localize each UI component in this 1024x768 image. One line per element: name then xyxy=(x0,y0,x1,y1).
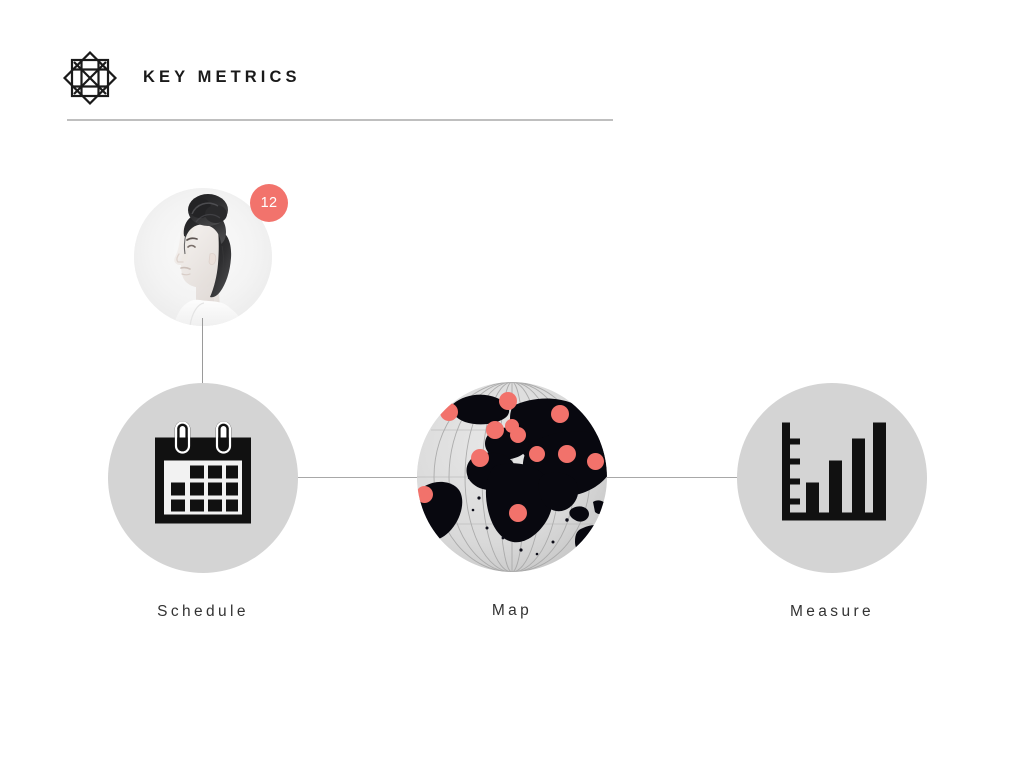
node-map[interactable]: Map xyxy=(417,382,607,572)
page-header: KEY METRICS xyxy=(0,0,1024,130)
connector-map-to-measure xyxy=(598,477,738,478)
node-schedule[interactable]: Schedule xyxy=(108,383,298,573)
map-marker[interactable] xyxy=(551,405,569,423)
avatar-badge-count: 12 xyxy=(250,184,288,222)
avatar[interactable]: 12 xyxy=(134,188,272,326)
map-marker[interactable] xyxy=(529,446,545,462)
map-marker[interactable] xyxy=(417,486,433,503)
map-marker[interactable] xyxy=(486,421,504,439)
calendar-icon xyxy=(150,421,256,536)
map-circle xyxy=(417,382,607,572)
bar-chart-icon xyxy=(776,421,888,536)
page-title: KEY METRICS xyxy=(143,66,301,88)
connector-schedule-to-map xyxy=(288,477,428,478)
connector-avatar-to-schedule xyxy=(202,318,203,386)
measure-circle xyxy=(737,383,927,573)
octagram-star-logo-icon xyxy=(62,50,118,106)
node-label-measure: Measure xyxy=(707,603,957,621)
map-marker[interactable] xyxy=(471,449,489,467)
map-marker[interactable] xyxy=(509,504,527,522)
node-label-map: Map xyxy=(387,602,637,620)
node-label-schedule: Schedule xyxy=(78,603,328,621)
header-divider xyxy=(67,119,613,121)
map-marker[interactable] xyxy=(510,427,526,443)
schedule-circle xyxy=(108,383,298,573)
node-measure[interactable]: Measure xyxy=(737,383,927,573)
